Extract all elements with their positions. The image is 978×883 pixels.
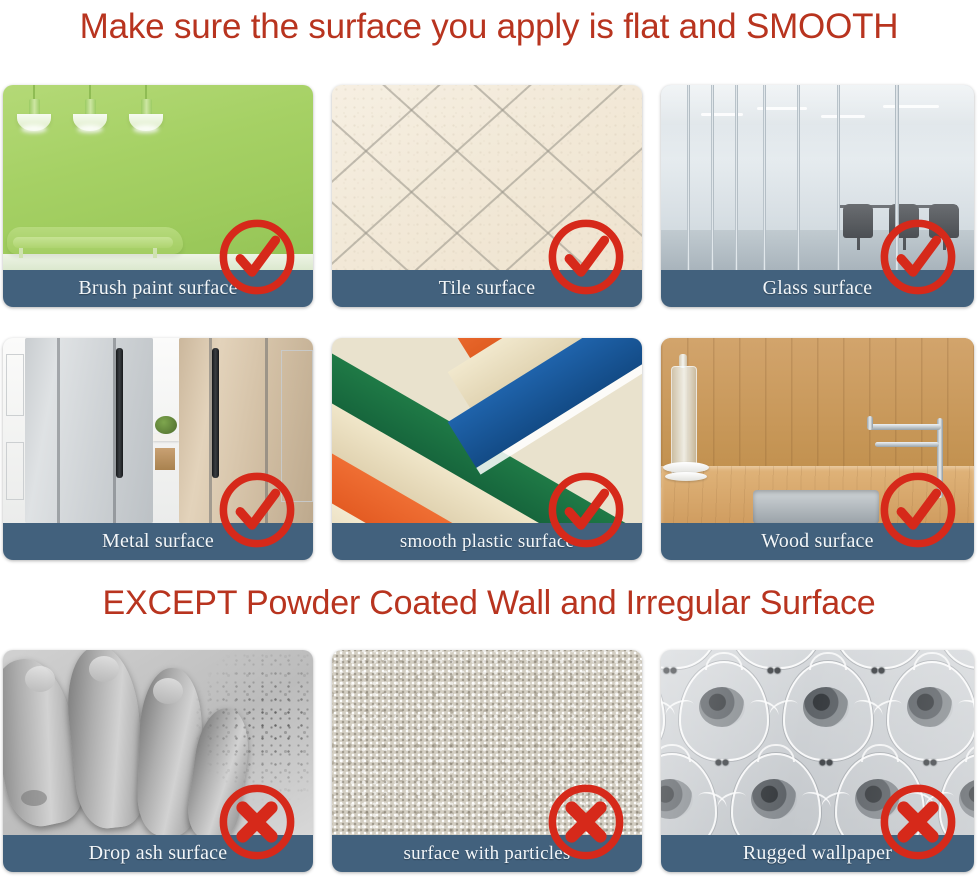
tile-tile-surface[interactable]: Tile surface — [332, 85, 642, 307]
tile-drop-ash-surface[interactable]: Drop ash surface — [3, 650, 313, 872]
page-title-middle: EXCEPT Powder Coated Wall and Irregular … — [0, 586, 978, 620]
tile-glass-surface[interactable]: Glass surface — [661, 85, 974, 307]
tile-rugged-wallpaper[interactable]: Rugged wallpaper — [661, 650, 974, 872]
cross-badge-icon — [544, 780, 628, 864]
check-badge-icon — [544, 215, 628, 299]
check-badge-icon — [215, 468, 299, 552]
approved-row-1: Brush paint surface — [0, 85, 978, 307]
tile-wood-surface[interactable]: Wood surface — [661, 338, 974, 560]
tile-metal-surface[interactable]: Metal surface — [3, 338, 313, 560]
check-badge-icon — [544, 468, 628, 552]
check-badge-icon — [215, 215, 299, 299]
tile-surface-with-particles[interactable]: surface with particles — [332, 650, 642, 872]
page-title-top: Make sure the surface you apply is flat … — [0, 9, 978, 44]
check-badge-icon — [876, 468, 960, 552]
tile-smooth-plastic-surface[interactable]: smooth plastic surface — [332, 338, 642, 560]
approved-row-2: Metal surface — [0, 338, 978, 560]
rejected-row-3: Drop ash surface surface with particles — [0, 650, 978, 872]
cross-badge-icon — [215, 780, 299, 864]
tile-brush-paint-surface[interactable]: Brush paint surface — [3, 85, 313, 307]
cross-badge-icon — [876, 780, 960, 864]
check-badge-icon — [876, 215, 960, 299]
infographic-page: Make sure the surface you apply is flat … — [0, 0, 978, 883]
